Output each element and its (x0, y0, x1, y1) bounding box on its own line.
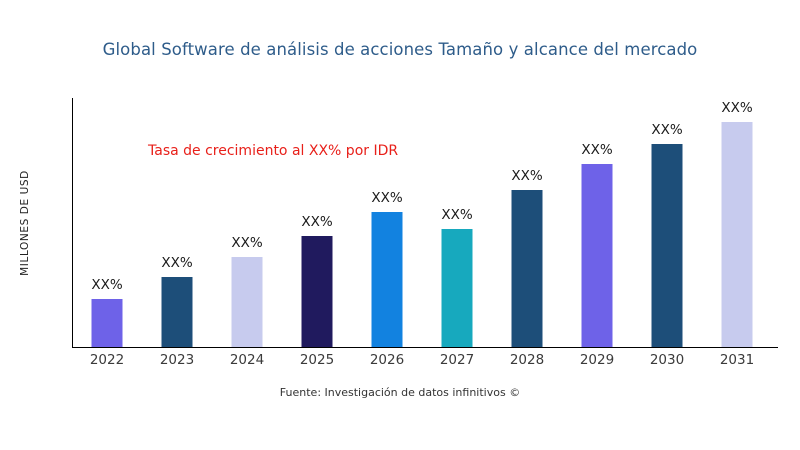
bar-2023[interactable] (162, 277, 193, 346)
x-axis-tick-labels: 2022202320242025202620272028202920302031 (72, 352, 778, 376)
bar-slot: XX% (702, 99, 772, 347)
bar-2025[interactable] (302, 236, 333, 347)
x-axis-spine (72, 347, 778, 348)
bar-2026[interactable] (372, 212, 403, 347)
bar-series: XX%XX%XX%XX%XX%XX%XX%XX%XX%XX% (72, 99, 778, 347)
bar-value-label-2028: XX% (511, 168, 542, 184)
x-tick-2031: 2031 (702, 352, 772, 368)
bar-slot: XX% (142, 99, 212, 347)
bar-value-label-2029: XX% (581, 142, 612, 158)
plot-area: XX%XX%XX%XX%XX%XX%XX%XX%XX%XX% (72, 98, 778, 348)
x-tick-2030: 2030 (632, 352, 702, 368)
bar-slot: XX% (562, 99, 632, 347)
source-caption: Fuente: Investigación de datos infinitiv… (0, 386, 800, 399)
bar-slot: XX% (492, 99, 562, 347)
x-tick-2024: 2024 (212, 352, 282, 368)
bar-value-label-2022: XX% (91, 277, 122, 293)
bar-slot: XX% (632, 99, 702, 347)
bar-value-label-2027: XX% (441, 207, 472, 223)
x-tick-2025: 2025 (282, 352, 352, 368)
bar-slot: XX% (72, 99, 142, 347)
x-tick-2022: 2022 (72, 352, 142, 368)
x-tick-2023: 2023 (142, 352, 212, 368)
growth-rate-annotation: Tasa de crecimiento al XX% por IDR (148, 143, 398, 159)
bar-2029[interactable] (582, 164, 613, 347)
x-tick-2029: 2029 (562, 352, 632, 368)
bar-2030[interactable] (652, 144, 683, 346)
bar-slot: XX% (212, 99, 282, 347)
bar-value-label-2024: XX% (231, 235, 262, 251)
x-tick-2028: 2028 (492, 352, 562, 368)
bar-2031[interactable] (722, 122, 753, 347)
x-tick-2027: 2027 (422, 352, 492, 368)
page-title: Global Software de análisis de acciones … (0, 40, 800, 59)
bar-2028[interactable] (512, 190, 543, 347)
bar-2024[interactable] (232, 257, 263, 346)
bar-2027[interactable] (442, 229, 473, 347)
bar-slot: XX% (422, 99, 492, 347)
bar-value-label-2031: XX% (721, 100, 752, 116)
x-tick-2026: 2026 (352, 352, 422, 368)
bar-slot: XX% (352, 99, 422, 347)
y-axis-label: MILLONES DE USD (19, 170, 31, 276)
bar-slot: XX% (282, 99, 352, 347)
bar-value-label-2030: XX% (651, 122, 682, 138)
bar-value-label-2023: XX% (161, 255, 192, 271)
chart-container: Global Software de análisis de acciones … (0, 0, 800, 450)
bar-value-label-2026: XX% (371, 190, 402, 206)
bar-value-label-2025: XX% (301, 214, 332, 230)
y-axis-label-wrap: MILLONES DE USD (14, 98, 36, 348)
bar-2022[interactable] (92, 299, 123, 347)
